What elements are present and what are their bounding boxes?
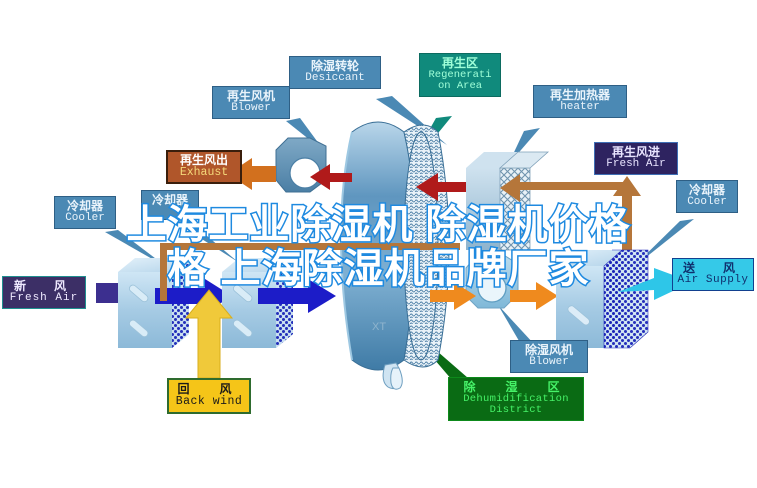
label-regen-blower-en: Blower (213, 103, 289, 115)
label-desiccant-cn: 除湿转轮 (290, 60, 380, 73)
label-desiccant-en: Desiccant (290, 73, 380, 85)
label-regen-heater[interactable]: 再生加热器 heater (533, 85, 627, 118)
label-regen-area-cn: 再生区 (420, 57, 500, 70)
label-regen-blower-cn: 再生风机 (213, 90, 289, 103)
label-air-supply[interactable]: 送 风 Air Supply (672, 258, 754, 291)
label-exhaust-en: Exhaust (168, 167, 240, 179)
label-regeneration-area[interactable]: 再生区 Regenerati on Area (419, 53, 501, 97)
label-regen-blower[interactable]: 再生风机 Blower (212, 86, 290, 119)
label-dehumidification-district[interactable]: 除 湿 区 Dehumidification District (448, 377, 584, 421)
label-air-supply-cn: 送 风 (673, 262, 753, 275)
label-regen-fresh-cn: 再生风进 (595, 146, 677, 159)
label-cooler-right-cn: 冷却器 (677, 184, 737, 197)
regeneration-heater (466, 152, 548, 250)
label-dehum-blower[interactable]: 除湿风机 Blower (510, 340, 588, 373)
regeneration-blower-fan (276, 138, 326, 192)
label-regen-fresh-en: Fresh Air (595, 159, 677, 171)
label-fresh-air-en: Fresh Air (3, 293, 85, 305)
label-heater-en: heater (534, 102, 626, 114)
label-regen-fresh-air[interactable]: 再生风进 Fresh Air (594, 142, 678, 175)
label-cooler-right-en: Cooler (677, 197, 737, 209)
label-cooler-mid-cn: 冷却器 (142, 194, 198, 207)
label-cooler-mid[interactable]: 冷却器 (141, 190, 199, 220)
label-fresh-air-cn: 新 风 (3, 280, 85, 293)
label-heater-cn: 再生加热器 (534, 89, 626, 102)
label-regen-area-en2: on Area (420, 81, 500, 92)
label-cooler-right[interactable]: 冷却器 Cooler (676, 180, 738, 213)
svg-text:XT: XT (372, 321, 386, 333)
label-back-wind-en: Back wind (169, 396, 249, 408)
dehumidifier-schematic-diagram: XT (0, 0, 757, 488)
label-cooler-left-en: Cooler (55, 213, 115, 225)
label-cooler-left-cn: 冷却器 (55, 200, 115, 213)
label-dehum-district-en1: Dehumidification (449, 394, 583, 405)
label-back-wind-cn: 回 风 (169, 383, 249, 396)
label-fresh-air[interactable]: 新 风 Fresh Air (2, 276, 86, 309)
label-air-supply-en: Air Supply (673, 275, 753, 287)
label-back-wind[interactable]: 回 风 Back wind (167, 378, 251, 414)
label-exhaust[interactable]: 再生风出 Exhaust (166, 150, 242, 184)
label-dehum-blower-cn: 除湿风机 (511, 344, 587, 357)
label-cooler-left[interactable]: 冷却器 Cooler (54, 196, 116, 229)
label-dehum-district-en2: District (449, 405, 583, 416)
desiccant-rotor-wheel: XT (341, 122, 449, 389)
label-exhaust-cn: 再生风出 (168, 154, 240, 167)
label-regen-area-en1: Regenerati (420, 70, 500, 81)
label-dehum-district-cn: 除 湿 区 (449, 381, 583, 394)
label-desiccant[interactable]: 除湿转轮 Desiccant (289, 56, 381, 89)
label-dehum-blower-en: Blower (511, 357, 587, 369)
outlet-filter-unit (556, 250, 648, 348)
